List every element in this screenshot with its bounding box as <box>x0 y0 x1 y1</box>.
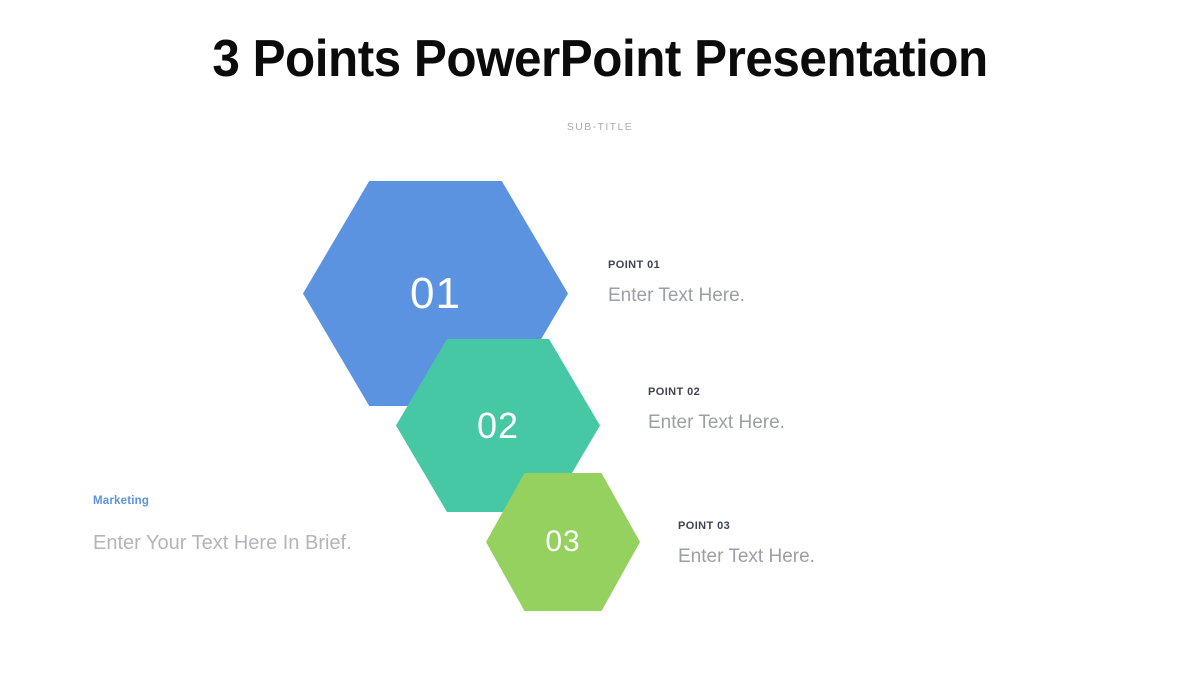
page-title: 3 Points PowerPoint Presentation <box>30 31 1170 88</box>
marketing-text[interactable]: Enter Your Text Here In Brief. <box>93 532 352 555</box>
point-03-label: POINT 03 <box>678 520 815 532</box>
point-01-label: POINT 01 <box>608 259 745 271</box>
point-03-text[interactable]: Enter Text Here. <box>678 546 815 568</box>
hexagon-01-number: 01 <box>410 272 461 316</box>
hexagon-02-number: 02 <box>477 408 519 444</box>
point-02-label: POINT 02 <box>648 386 785 398</box>
point-block-03: POINT 03 Enter Text Here. <box>678 520 815 568</box>
point-01-text[interactable]: Enter Text Here. <box>608 285 745 307</box>
presentation-slide: 3 Points PowerPoint Presentation SUB-TIT… <box>0 0 1200 675</box>
point-block-02: POINT 02 Enter Text Here. <box>648 386 785 434</box>
point-block-01: POINT 01 Enter Text Here. <box>608 259 745 307</box>
marketing-label: Marketing <box>93 495 352 507</box>
marketing-block: Marketing Enter Your Text Here In Brief. <box>93 495 352 555</box>
point-02-text[interactable]: Enter Text Here. <box>648 412 785 434</box>
hexagon-03-number: 03 <box>545 527 580 557</box>
slide-subtitle: SUB-TITLE <box>0 121 1200 133</box>
